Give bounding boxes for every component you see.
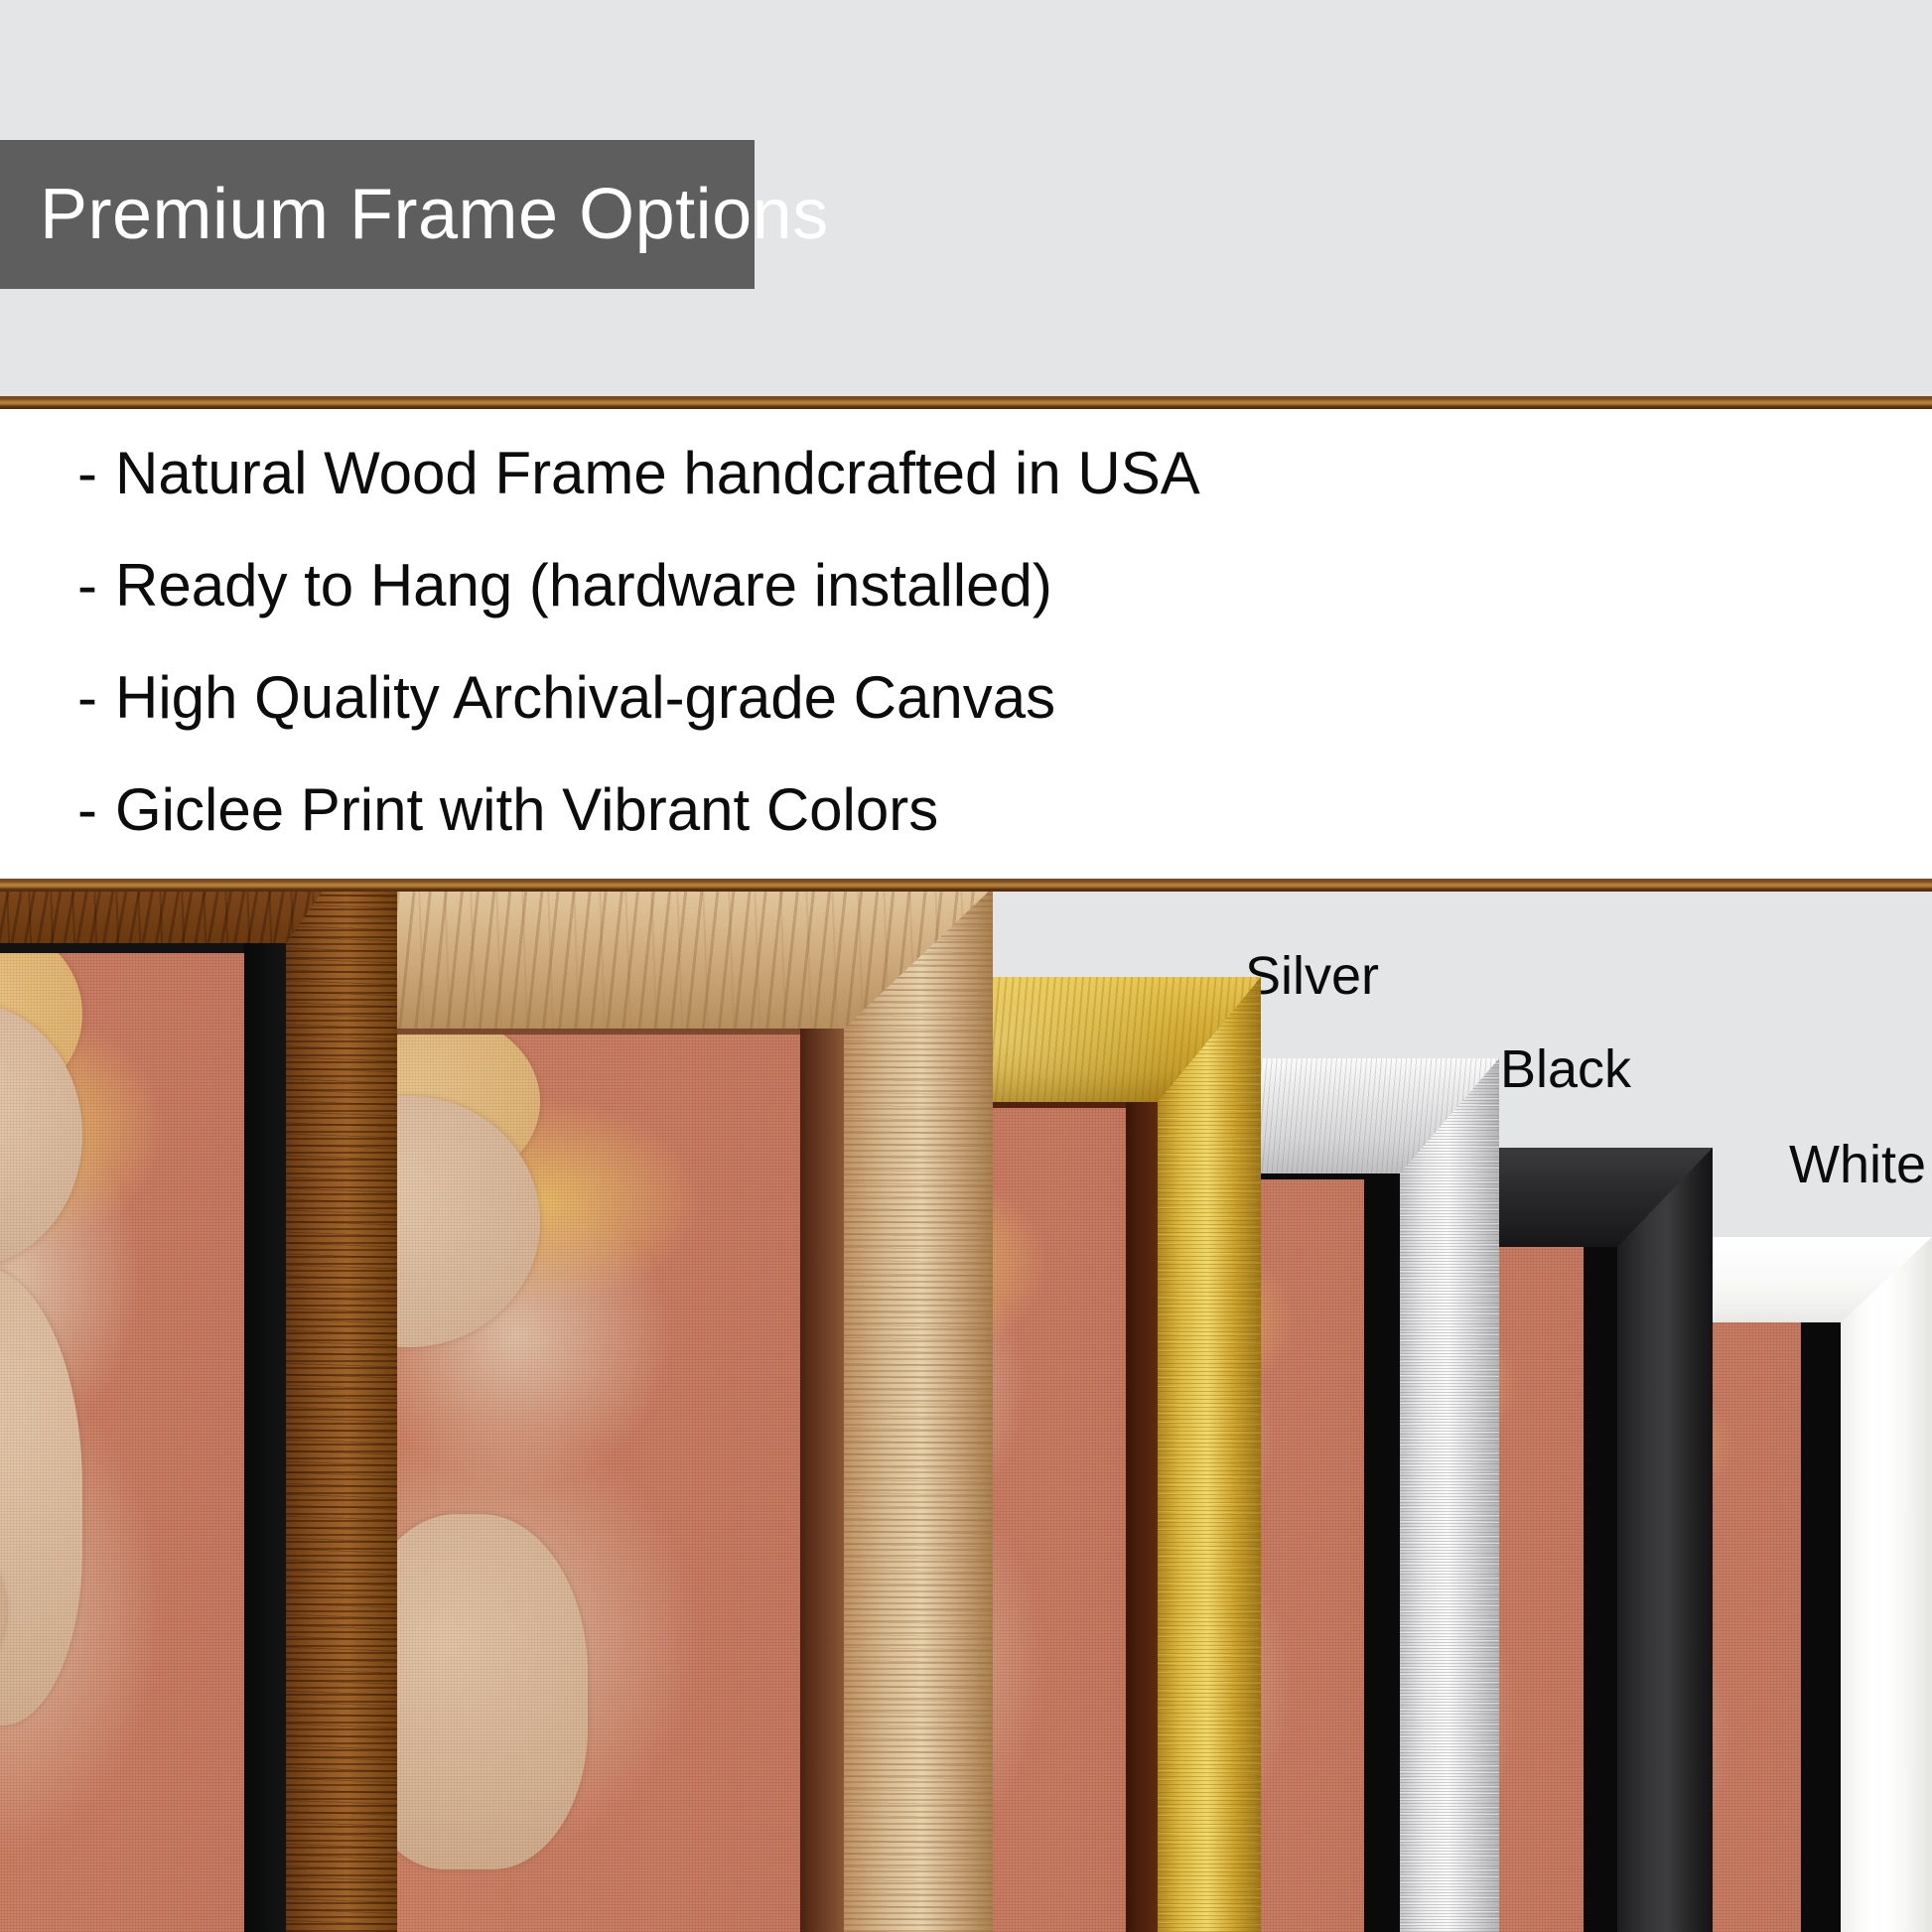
feature-text: Giclee Print with Vibrant Colors <box>115 775 938 844</box>
frame-side-rail <box>1158 977 1261 1932</box>
features-panel: - Natural Wood Frame handcrafted in USA … <box>0 409 1932 879</box>
frame-sample-walnut[interactable]: Walnut <box>0 892 397 1932</box>
frame-showcase: White Black Silver <box>0 892 1932 1932</box>
header-zone: Premium Frame Options <box>0 0 1932 397</box>
frame-side-rail <box>1841 1237 1932 1932</box>
frame-side-rail <box>286 892 397 1932</box>
divider-bottom <box>0 879 1932 892</box>
frame-side-rail <box>1400 1058 1499 1932</box>
feature-item: - Natural Wood Frame handcrafted in USA <box>77 439 1932 551</box>
frame-label-silver: Silver <box>1245 949 1379 1003</box>
divider-top <box>0 396 1932 409</box>
feature-item: - Giclee Print with Vibrant Colors <box>77 775 1932 888</box>
product-frame-options-graphic: Premium Frame Options - Natural Wood Fra… <box>0 0 1932 1932</box>
frame-side-rail <box>1617 1148 1713 1932</box>
bullet-dash-icon: - <box>77 663 115 732</box>
frame-sample-oak[interactable]: Oak <box>397 892 993 1932</box>
frame-label-black: Black <box>1500 1042 1631 1096</box>
page-title: Premium Frame Options <box>0 174 829 255</box>
frame-inner-shadow-right <box>800 892 844 1932</box>
art-shape-hand <box>0 1542 6 1680</box>
feature-text: Ready to Hang (hardware installed) <box>115 551 1052 620</box>
frame-inner-shadow-right <box>1126 977 1158 1932</box>
feature-item: - High Quality Archival-grade Canvas <box>77 663 1932 775</box>
frame-label-white: White <box>1789 1138 1926 1191</box>
title-banner: Premium Frame Options <box>0 140 755 289</box>
bullet-dash-icon: - <box>77 775 115 844</box>
frame-side-rail <box>844 892 993 1932</box>
art-shape-head <box>0 1003 82 1267</box>
art-shape-body <box>0 1267 82 1725</box>
feature-text: Natural Wood Frame handcrafted in USA <box>115 439 1200 507</box>
feature-item: - Ready to Hang (hardware installed) <box>77 551 1932 663</box>
frame-inner-shadow-right <box>244 892 286 1932</box>
feature-text: High Quality Archival-grade Canvas <box>115 663 1055 732</box>
frame-inner-shadow-right <box>1584 1148 1617 1932</box>
bullet-dash-icon: - <box>77 551 115 620</box>
bullet-dash-icon: - <box>77 439 115 507</box>
frame-inner-shadow-right <box>1801 1237 1841 1932</box>
frame-inner-shadow-right <box>1364 1058 1400 1932</box>
